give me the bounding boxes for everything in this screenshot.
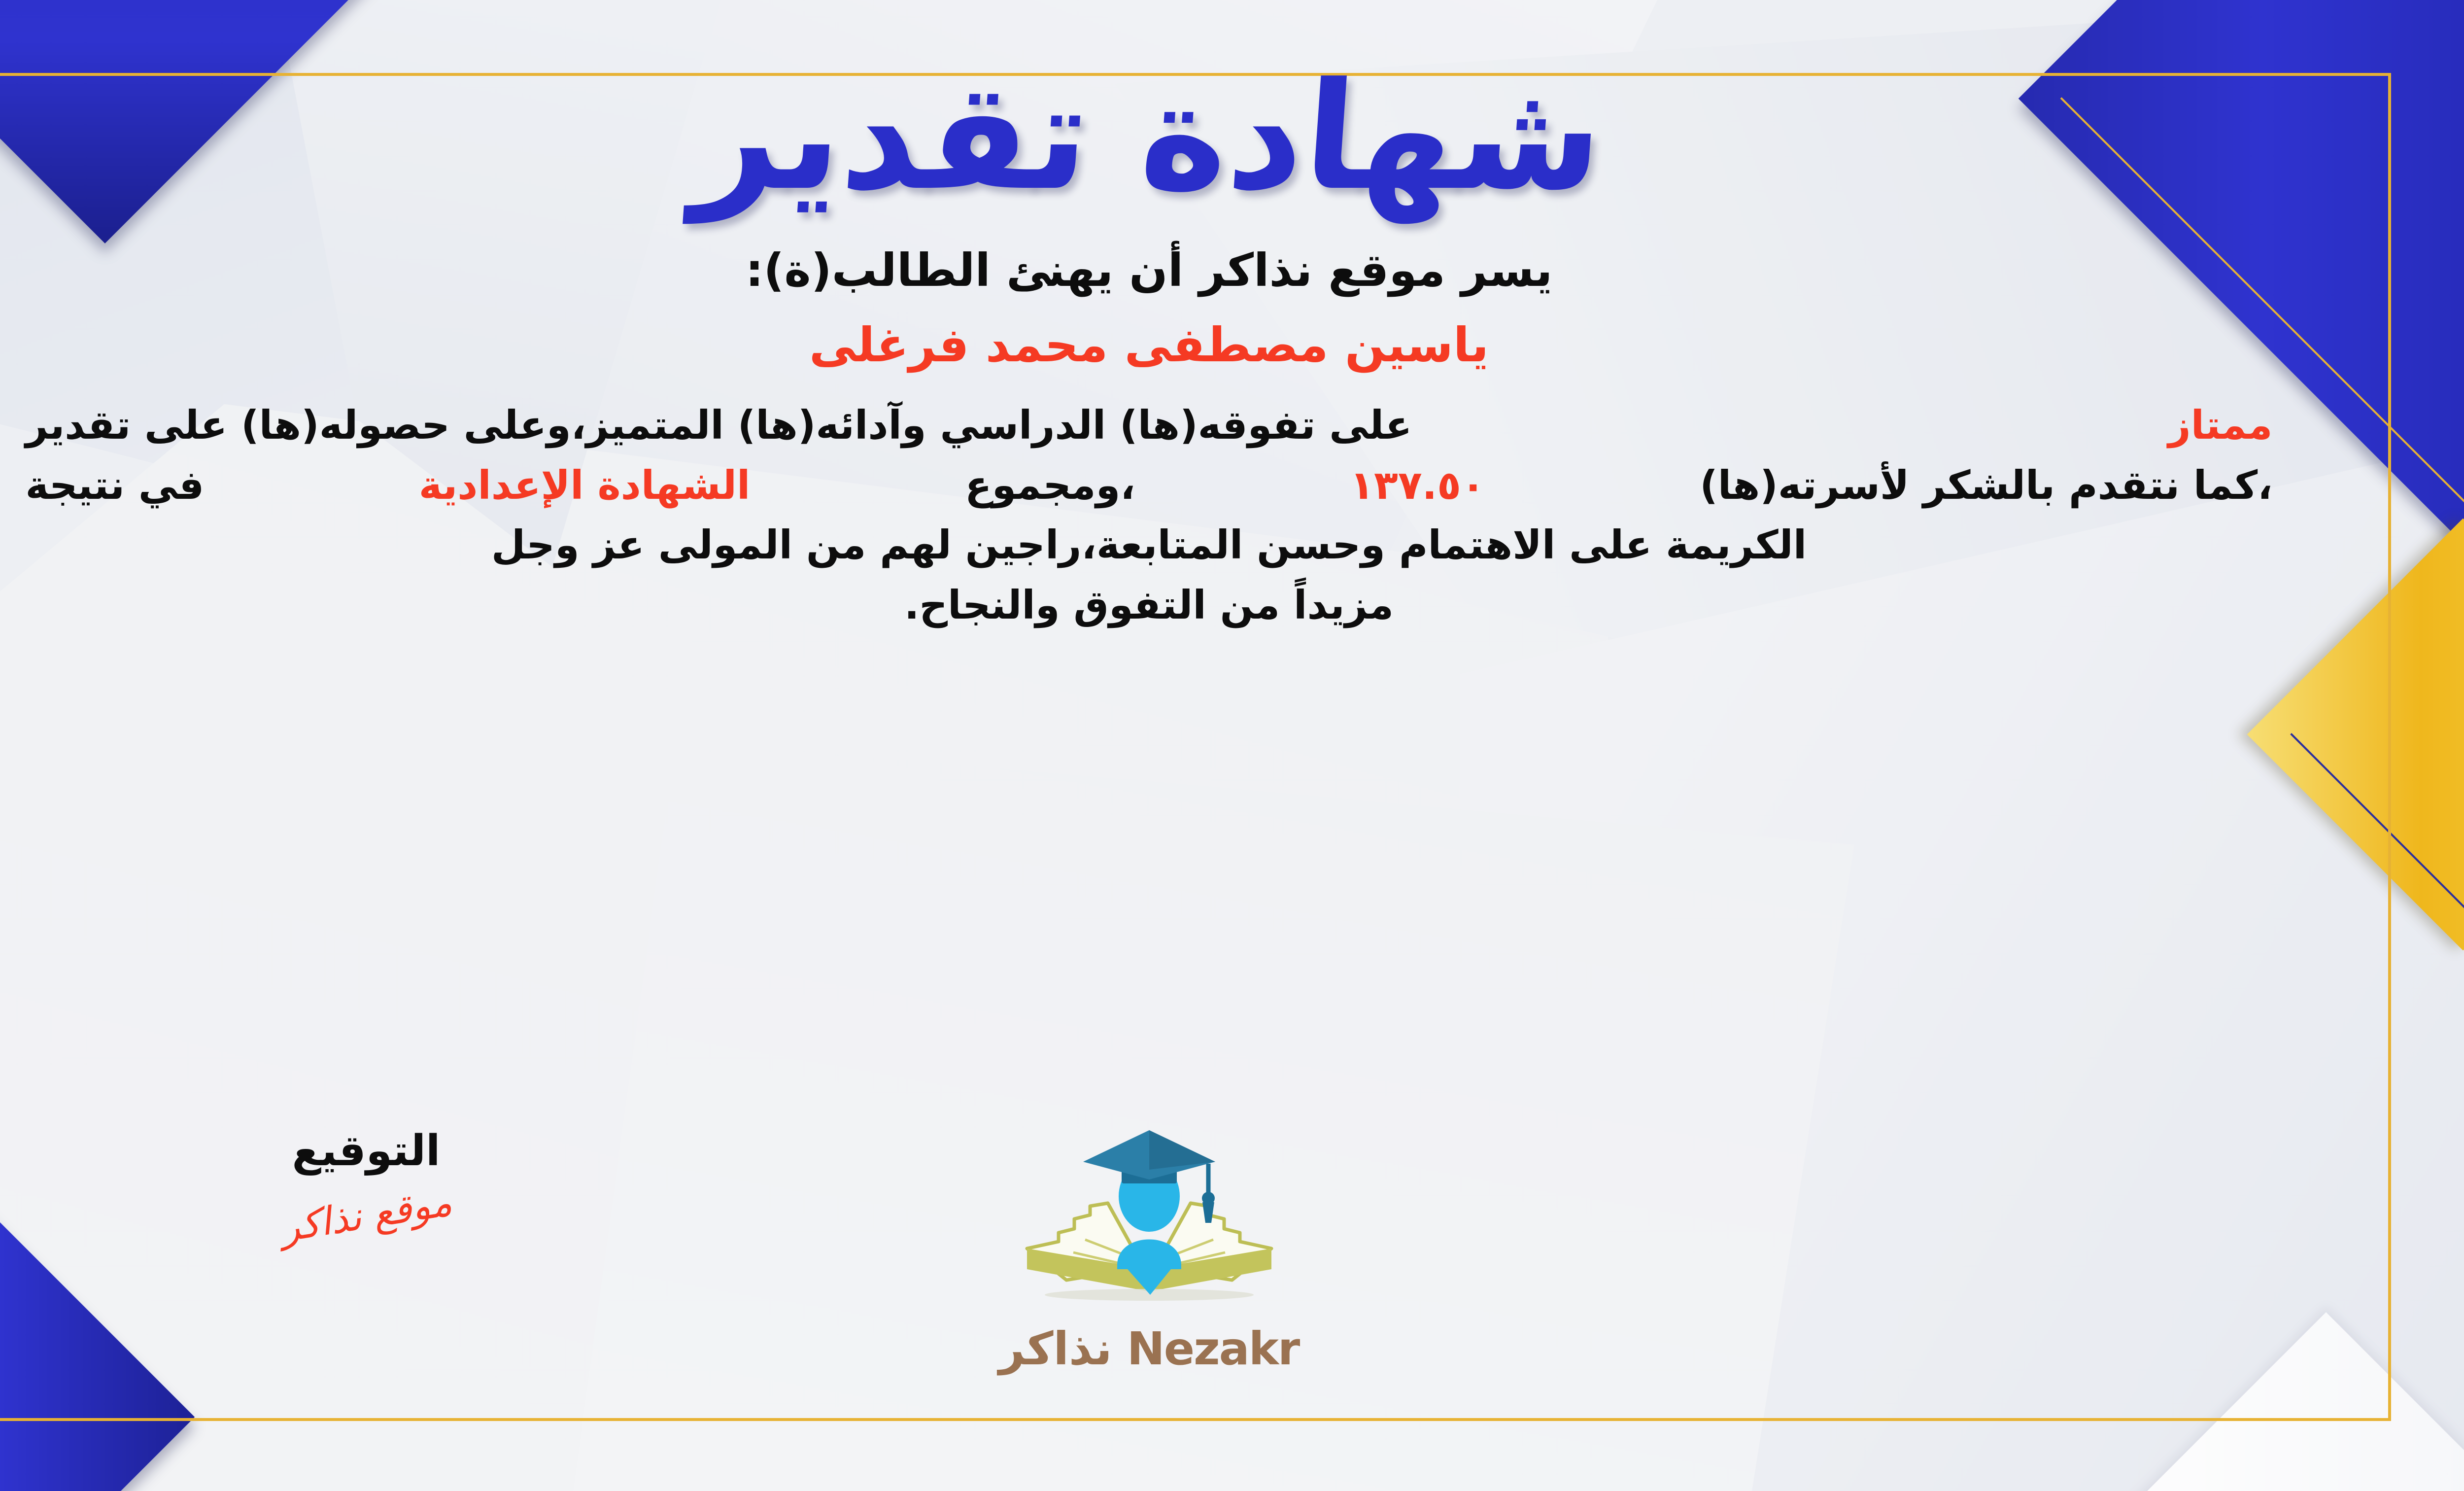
body-line-2-prefix: في نتيجة (26, 455, 205, 516)
greeting-line: يسر موقع نذاكر أن يهنئ الطالب(ة): (746, 244, 1553, 297)
body-line-3: الكريمة على الاهتمام وحسن المتابعة،راجين… (26, 515, 2273, 575)
certificate-body: ممتاز على تفوقه(ها) الدراسي وآدائه(ها) ا… (26, 395, 2273, 635)
signature-block: التوقيع موقع نذاكر (208, 1126, 524, 1238)
certificate-title: شهادة تقدير (689, 59, 1608, 214)
body-line-2: ،كما نتقدم بالشكر لأسرته(ها) ١٣٧.٥٠ ،ومج… (26, 455, 2273, 516)
student-name: ياسين مصطفى محمد فرغلى (809, 317, 1489, 373)
signature-label: التوقيع (208, 1126, 524, 1176)
certificate-content: شهادة تقدير يسر موقع نذاكر أن يهنئ الطال… (0, 0, 2464, 1491)
certificate-footer: التوقيع موقع نذاكر (0, 1126, 2464, 1402)
body-line-2-suffix: ،كما نتقدم بالشكر لأسرته(ها) (1700, 455, 2272, 516)
graduate-book-logo-icon (1011, 1121, 1287, 1318)
logo-wordmark: Nezakr نذاكر (913, 1322, 1386, 1375)
body-line-1-text: على تفوقه(ها) الدراسي وآدائه(ها) المتميز… (26, 395, 1412, 455)
body-line-4: مزيداً من التفوق والنجاح. (26, 575, 2273, 635)
total-score: ١٣٧.٥٠ (1350, 455, 1485, 516)
site-logo: Nezakr نذاكر (913, 1121, 1386, 1375)
body-line-1: ممتاز على تفوقه(ها) الدراسي وآدائه(ها) ا… (26, 395, 2273, 455)
certificate-canvas: شهادة تقدير يسر موقع نذاكر أن يهنئ الطال… (0, 0, 2464, 1491)
exam-name: الشهادة الإعدادية (419, 455, 751, 516)
grade-value: ممتاز (2168, 395, 2273, 455)
signature-mark: موقع نذاكر (277, 1180, 455, 1251)
body-line-2-mid: ،ومجموع (965, 455, 1135, 516)
